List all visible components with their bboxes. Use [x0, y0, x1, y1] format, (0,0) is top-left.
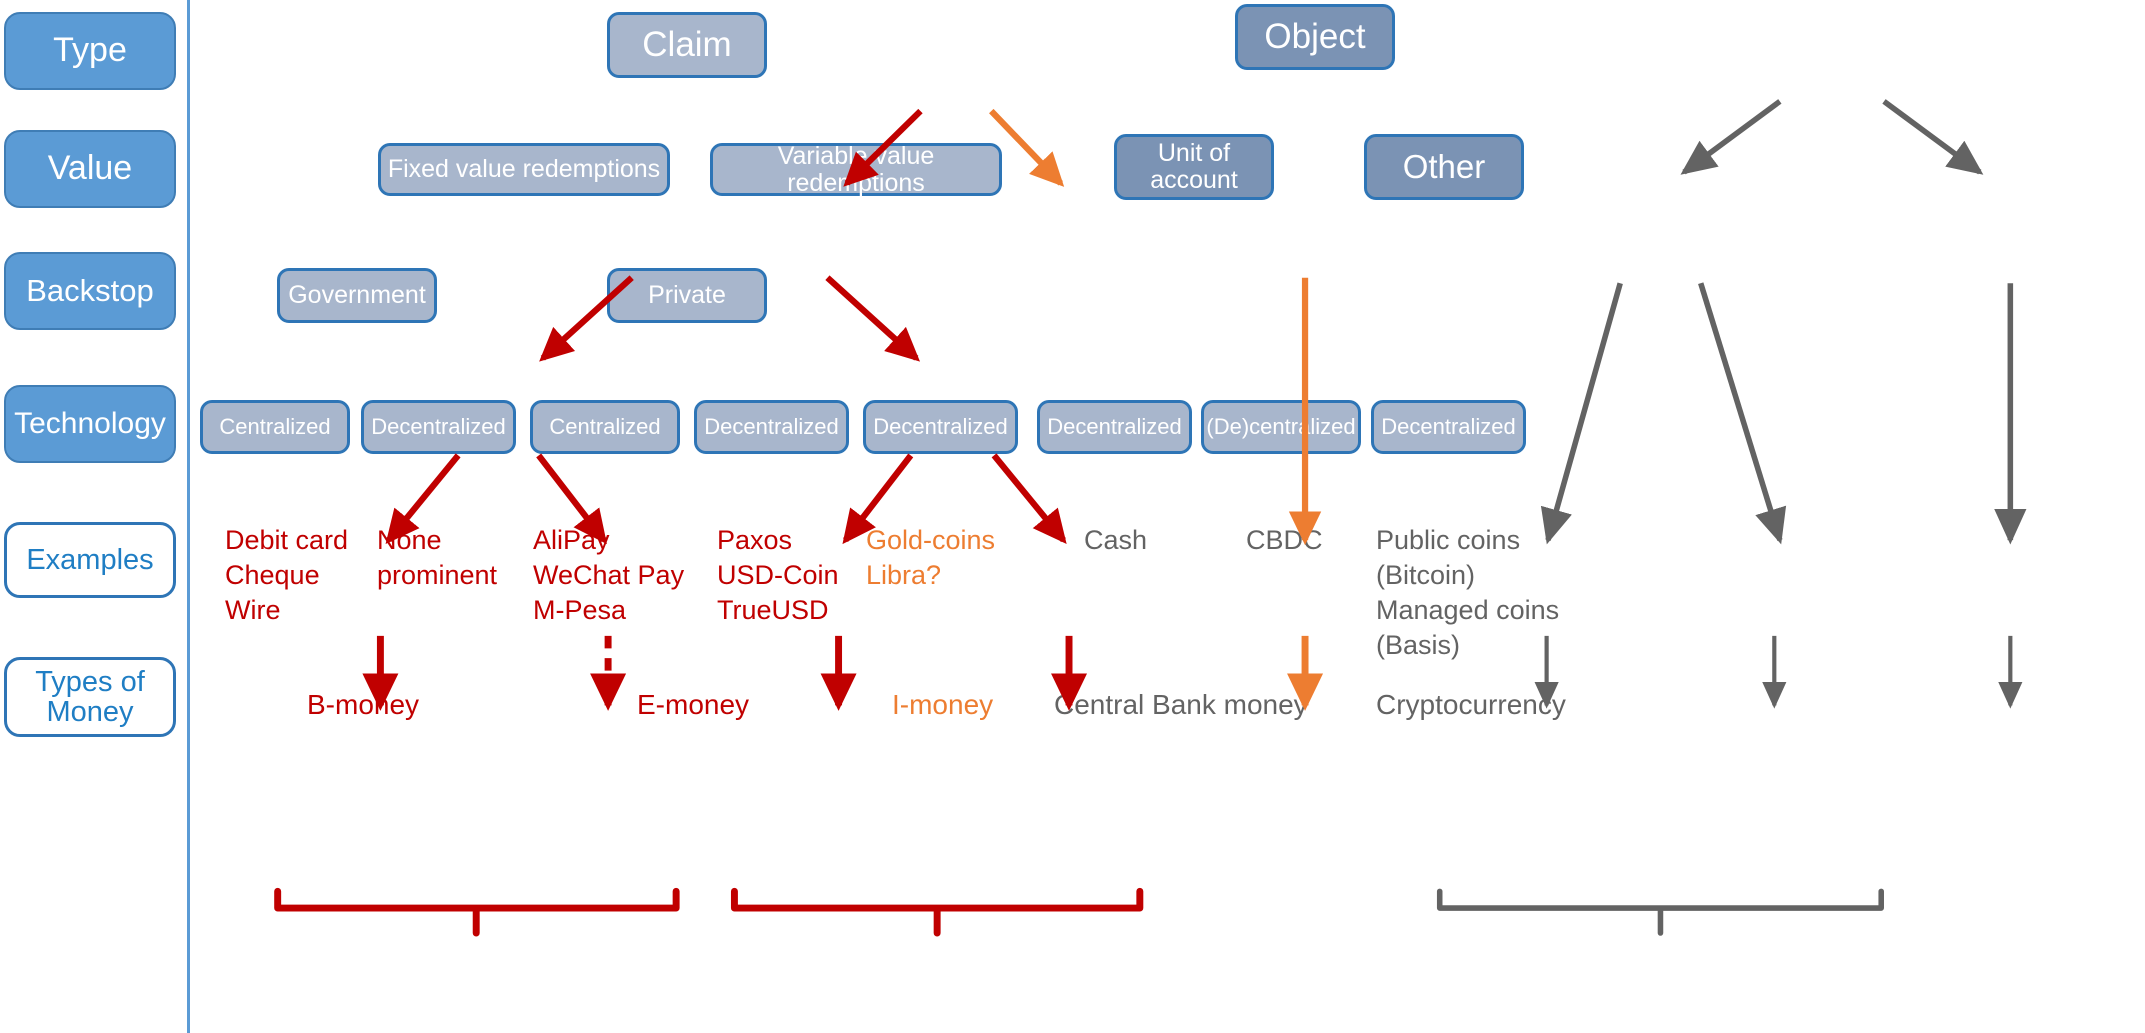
- node-technology-6[interactable]: Decentralized: [1037, 400, 1192, 454]
- node-label: Variable value redemptions: [713, 143, 999, 197]
- node-label: Fixed value redemptions: [388, 156, 660, 183]
- node-technology-5[interactable]: Decentralized: [863, 400, 1018, 454]
- money-type-b-money: B-money: [307, 687, 419, 723]
- money-type-e-money: E-money: [637, 687, 749, 723]
- node-technology-3[interactable]: Centralized: [530, 400, 680, 454]
- node-label: Other: [1403, 149, 1486, 185]
- example-block-1: Debit card Cheque Wire: [225, 523, 348, 628]
- node-label: Unit of account: [1117, 140, 1271, 194]
- node-label: Government: [288, 282, 426, 309]
- example-block-2: None prominent: [377, 523, 497, 593]
- node-other[interactable]: Other: [1364, 134, 1524, 200]
- node-label: (De)centralized: [1206, 415, 1355, 439]
- edge-object-to-unit-of-account: [1684, 101, 1780, 172]
- rail-item-label: Type: [53, 33, 127, 69]
- rail-item-label: Value: [48, 151, 132, 187]
- node-label: Decentralized: [704, 415, 839, 439]
- node-unit-of-account[interactable]: Unit of account: [1114, 134, 1274, 200]
- node-technology-8[interactable]: Decentralized: [1371, 400, 1526, 454]
- edge-unit-of-account-to-technology-6: [1548, 283, 1620, 540]
- example-block-4: Paxos USD-Coin TrueUSD: [717, 523, 839, 628]
- node-label: Centralized: [219, 415, 330, 439]
- example-block-5: Gold-coins Libra?: [866, 523, 995, 593]
- rail-item-label: Backstop: [26, 275, 154, 308]
- money-type-i-money: I-money: [892, 687, 993, 723]
- node-government[interactable]: Government: [277, 268, 437, 323]
- brace-e-money: [734, 891, 1139, 933]
- node-technology-7[interactable]: (De)centralized: [1201, 400, 1361, 454]
- connector-overlay: [0, 0, 2145, 1033]
- money-type-central-bank-money: Central Bank money: [1054, 687, 1308, 723]
- brace-b-money: [278, 891, 676, 933]
- node-label: Centralized: [549, 415, 660, 439]
- example-block-6: Cash: [1084, 523, 1147, 558]
- money-type-cryptocurrency: Cryptocurrency: [1376, 687, 1566, 723]
- node-technology-4[interactable]: Decentralized: [694, 400, 849, 454]
- node-label: Decentralized: [371, 415, 506, 439]
- rail-item-examples[interactable]: Examples: [4, 522, 176, 598]
- edge-private-to-technology-4: [994, 455, 1063, 540]
- rail-item-label: Technology: [14, 408, 166, 440]
- node-private[interactable]: Private: [607, 268, 767, 323]
- rail-divider: [187, 0, 190, 1033]
- node-label: Decentralized: [1047, 415, 1182, 439]
- edge-object-to-other: [1884, 101, 1980, 172]
- example-block-8: Public coins (Bitcoin) Managed coins (Ba…: [1376, 523, 1559, 663]
- node-technology-1[interactable]: Centralized: [200, 400, 350, 454]
- example-block-3: AliPay WeChat Pay M-Pesa: [533, 523, 684, 628]
- edge-fixed-to-private: [827, 278, 916, 359]
- rail-item-label: Examples: [26, 545, 153, 575]
- node-label: Object: [1264, 18, 1365, 56]
- node-label: Private: [648, 282, 726, 309]
- brace-central-bank-money: [1440, 891, 1881, 933]
- rail-item-label: Types of Money: [7, 667, 173, 728]
- node-label: Decentralized: [1381, 415, 1516, 439]
- rail-item-value[interactable]: Value: [4, 130, 176, 208]
- diagram-canvas: Type Value Backstop Technology Examples …: [0, 0, 2145, 1033]
- node-variable-value-redemptions[interactable]: Variable value redemptions: [710, 143, 1002, 196]
- node-label: Decentralized: [873, 415, 1008, 439]
- rail-item-type[interactable]: Type: [4, 12, 176, 90]
- edge-unit-of-account-to-technology-7: [1701, 283, 1780, 540]
- node-label: Claim: [642, 26, 731, 64]
- node-claim[interactable]: Claim: [607, 12, 767, 78]
- rail-item-backstop[interactable]: Backstop: [4, 252, 176, 330]
- node-technology-2[interactable]: Decentralized: [361, 400, 516, 454]
- node-object[interactable]: Object: [1235, 4, 1395, 70]
- node-fixed-value-redemptions[interactable]: Fixed value redemptions: [378, 143, 670, 196]
- rail-item-technology[interactable]: Technology: [4, 385, 176, 463]
- example-block-7: CBDC: [1246, 523, 1323, 558]
- rail-item-types-of-money[interactable]: Types of Money: [4, 657, 176, 737]
